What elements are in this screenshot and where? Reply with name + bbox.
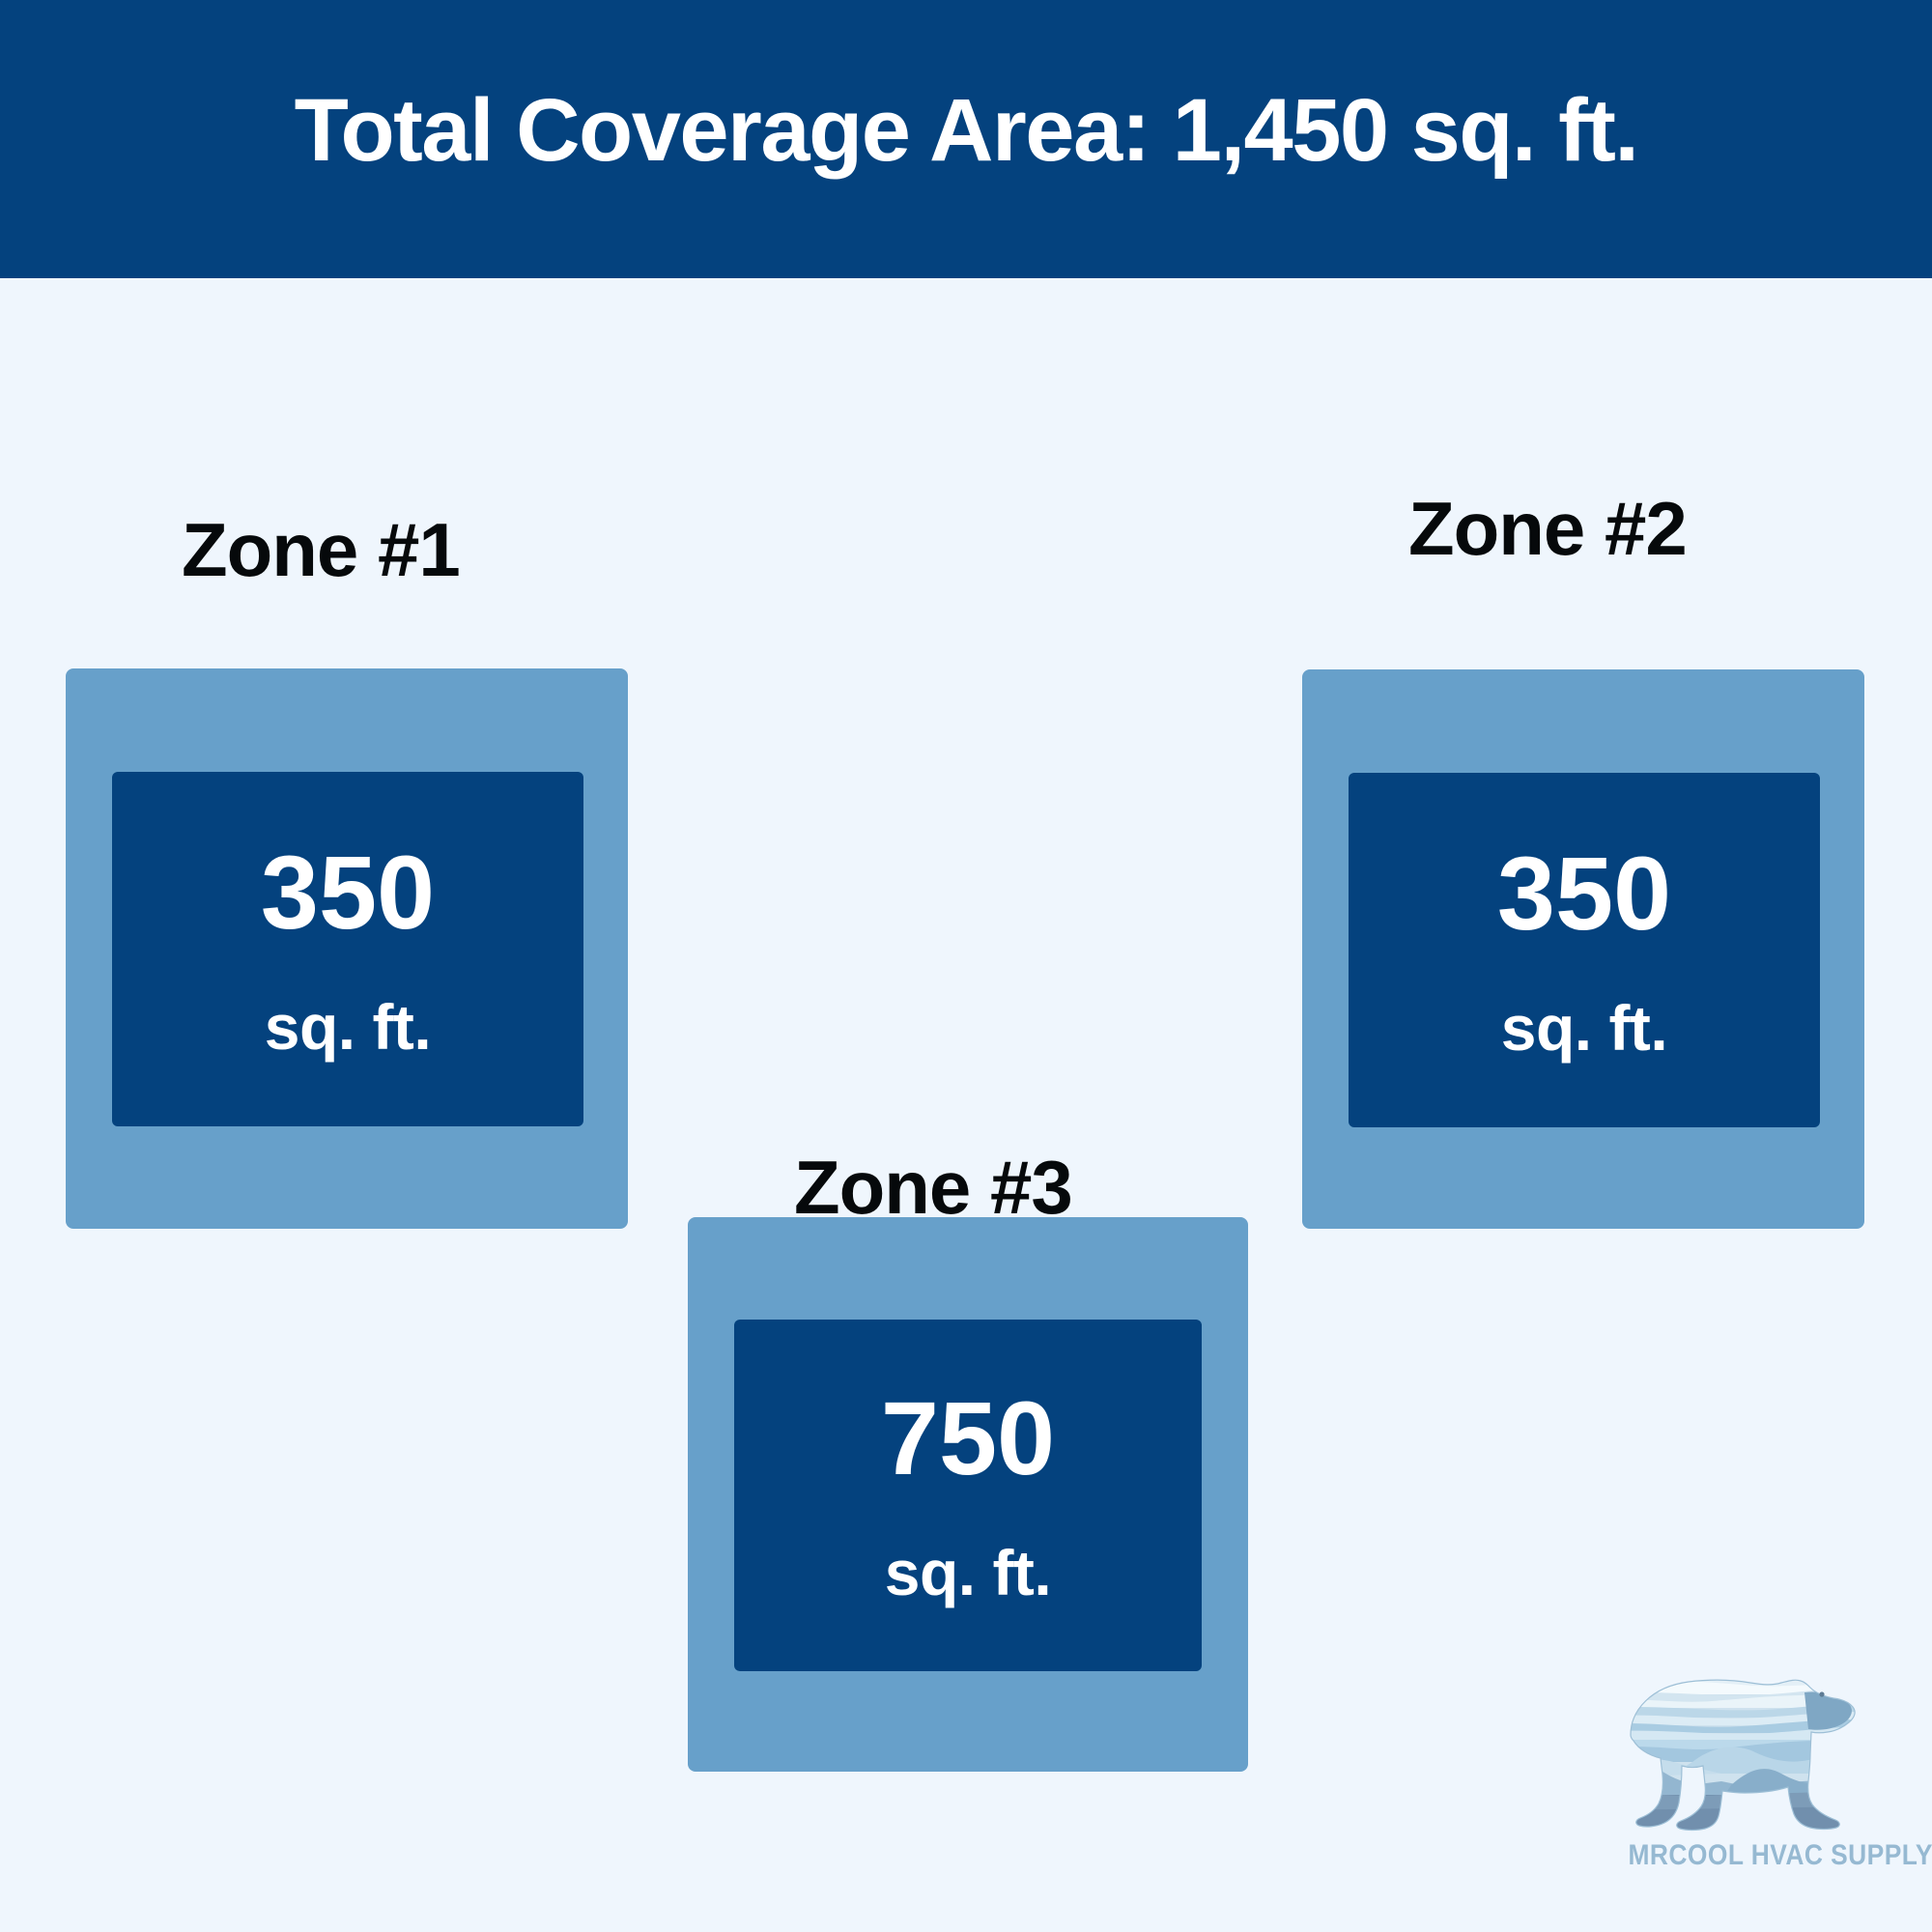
- zone-3-value: 750: [881, 1386, 1055, 1491]
- zone-2-inner-box: 350 sq. ft.: [1349, 773, 1820, 1127]
- zone-2-label: Zone #2: [1408, 491, 1687, 566]
- polar-bear-icon: [1605, 1669, 1864, 1835]
- zone-group-1: Zone #1 350 sq. ft.: [66, 394, 628, 974]
- zone-1-label: Zone #1: [182, 512, 460, 587]
- header-banner: Total Coverage Area: 1,450 sq. ft.: [0, 0, 1932, 278]
- zone-group-3: Zone #3 750 sq. ft.: [688, 1070, 1248, 1669]
- zone-1-outer-box: 350 sq. ft.: [66, 668, 628, 1229]
- zone-2-outer-box: 350 sq. ft.: [1302, 669, 1864, 1229]
- zone-3-unit: sq. ft.: [885, 1541, 1052, 1605]
- zone-1-unit: sq. ft.: [265, 995, 432, 1059]
- zone-3-inner-box: 750 sq. ft.: [734, 1320, 1202, 1671]
- page-title: Total Coverage Area: 1,450 sq. ft.: [295, 86, 1638, 175]
- zone-2-unit: sq. ft.: [1501, 996, 1668, 1060]
- zone-3-outer-box: 750 sq. ft.: [688, 1217, 1248, 1772]
- zone-3-label: Zone #3: [794, 1150, 1072, 1225]
- zone-group-2: Zone #2 350 sq. ft.: [1302, 394, 1864, 974]
- brand-wordmark: MRCOOL HVAC SUPPLY: [1628, 1839, 1847, 1872]
- brand-logo: MRCOOL HVAC SUPPLY: [1605, 1669, 1895, 1901]
- zone-1-value: 350: [261, 840, 435, 945]
- zone-1-inner-box: 350 sq. ft.: [112, 772, 583, 1126]
- bear-eye-icon: [1819, 1691, 1824, 1696]
- bear-landscape-fill: [1605, 1669, 1864, 1835]
- zone-2-value: 350: [1497, 841, 1671, 946]
